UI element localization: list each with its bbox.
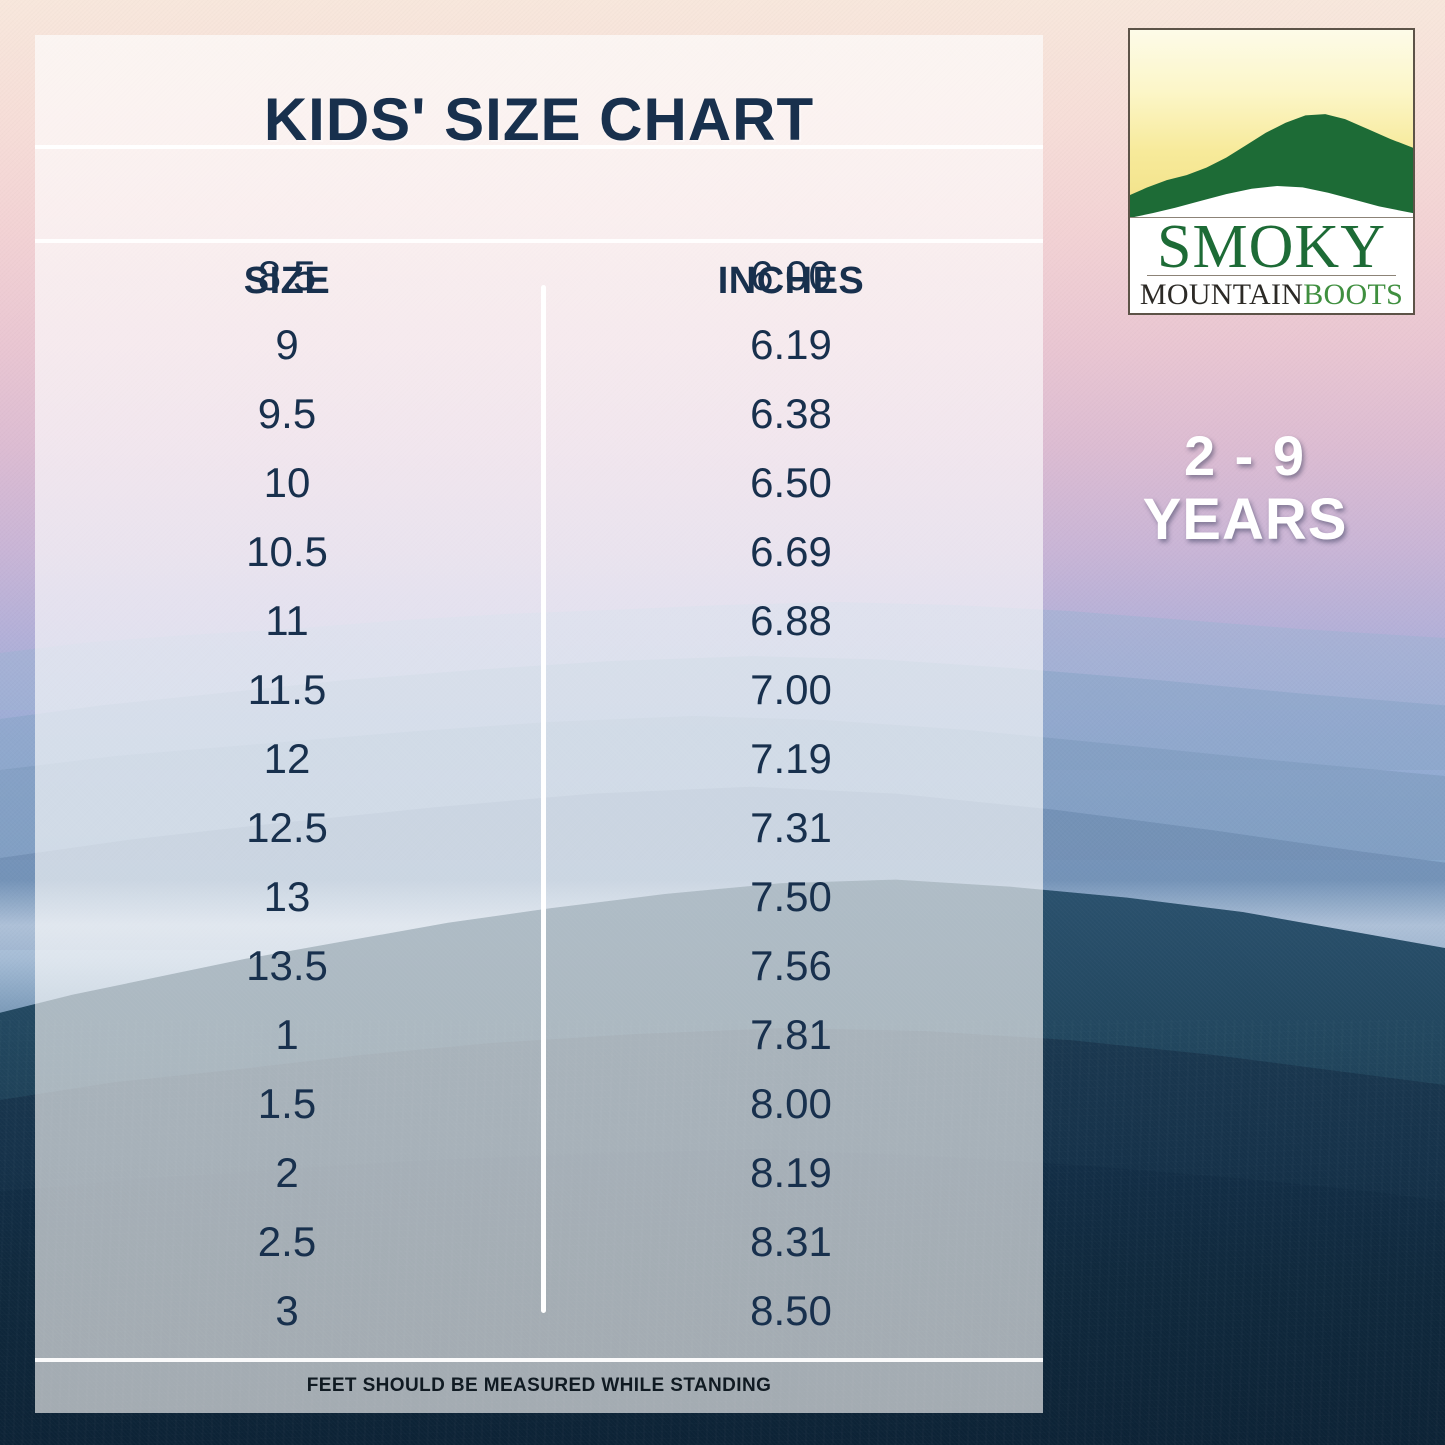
age-range-unit: YEARS [1060,488,1430,553]
rule-top [35,145,1043,149]
table-row: 10.5 6.69 [35,517,1043,586]
cell-size: 2 [35,1149,539,1197]
cell-size: 11 [35,597,539,645]
cell-size: 3 [35,1287,539,1335]
cell-inches: 8.31 [539,1218,1043,1266]
table-row: 8.5 6.00 [35,241,1043,310]
table-row: 2 8.19 [35,1138,1043,1207]
brand-logo: SMOKY MOUNTAINBOOTS [1128,28,1415,315]
cell-size: 12.5 [35,804,539,852]
logo-word-mountain: MOUNTAIN [1140,278,1303,312]
logo-word-boots: BOOTS [1303,278,1403,312]
cell-inches: 6.19 [539,321,1043,369]
cell-size: 9.5 [35,390,539,438]
cell-inches: 8.19 [539,1149,1043,1197]
logo-subwordmark: MOUNTAINBOOTS [1130,276,1413,313]
size-chart-image: KIDS' SIZE CHART SIZE INCHES 8.5 6.00 9 … [0,0,1445,1445]
table-row: 3 8.50 [35,1276,1043,1345]
table-row: 2.5 8.31 [35,1207,1043,1276]
cell-size: 13 [35,873,539,921]
table-body: 8.5 6.00 9 6.19 9.5 6.38 10 6.50 10.5 6.… [35,241,1043,1345]
cell-size: 13.5 [35,942,539,990]
age-range-value: 2 - 9 [1060,425,1430,488]
cell-size: 9 [35,321,539,369]
cell-size: 10 [35,459,539,507]
table-row: 13 7.50 [35,862,1043,931]
table-row: 10 6.50 [35,448,1043,517]
page-title: KIDS' SIZE CHART [35,85,1043,154]
cell-inches: 8.00 [539,1080,1043,1128]
cell-size: 10.5 [35,528,539,576]
cell-size: 11.5 [35,666,539,714]
cell-inches: 7.00 [539,666,1043,714]
cell-inches: 6.69 [539,528,1043,576]
cell-inches: 7.81 [539,1011,1043,1059]
size-chart-panel: KIDS' SIZE CHART SIZE INCHES 8.5 6.00 9 … [35,35,1043,1413]
cell-size: 2.5 [35,1218,539,1266]
rule-footer [35,1358,1043,1362]
cell-inches: 6.50 [539,459,1043,507]
table-row: 9.5 6.38 [35,379,1043,448]
cell-inches: 7.19 [539,735,1043,783]
table-row: 12.5 7.31 [35,793,1043,862]
cell-size: 1.5 [35,1080,539,1128]
cell-inches: 6.00 [539,252,1043,300]
cell-size: 8.5 [35,252,539,300]
cell-inches: 6.38 [539,390,1043,438]
table-row: 1 7.81 [35,1000,1043,1069]
table-row: 9 6.19 [35,310,1043,379]
cell-inches: 7.31 [539,804,1043,852]
table-row: 13.5 7.56 [35,931,1043,1000]
cell-inches: 8.50 [539,1287,1043,1335]
table-row: 11 6.88 [35,586,1043,655]
cell-inches: 7.50 [539,873,1043,921]
table-row: 12 7.19 [35,724,1043,793]
cell-size: 1 [35,1011,539,1059]
cell-size: 12 [35,735,539,783]
logo-wordmark-smoky: SMOKY [1130,217,1413,279]
cell-inches: 7.56 [539,942,1043,990]
age-range-badge: 2 - 9 YEARS [1060,425,1430,553]
table-row: 11.5 7.00 [35,655,1043,724]
measurement-note: FEET SHOULD BE MEASURED WHILE STANDING [35,1375,1043,1397]
cell-inches: 6.88 [539,597,1043,645]
table-row: 1.5 8.00 [35,1069,1043,1138]
